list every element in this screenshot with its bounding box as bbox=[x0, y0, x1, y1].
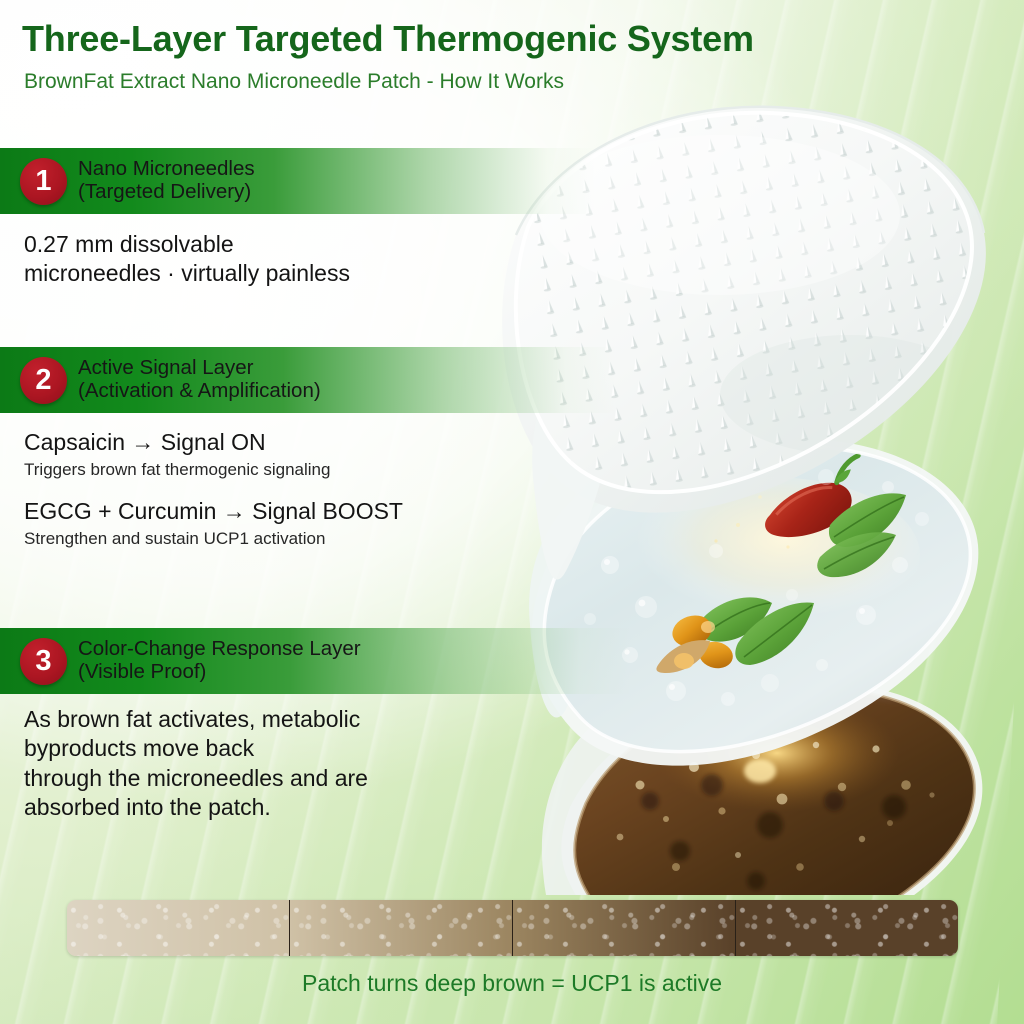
section-body-3: As brown fat activates, metabolic byprod… bbox=[24, 705, 484, 823]
section-heading-3: Color-Change Response Layer (Visible Pro… bbox=[78, 638, 361, 684]
section-body-2-item1-sub: Triggers brown fat thermogenic signaling bbox=[24, 459, 494, 481]
section-heading-1: Nano Microneedles (Targeted Delivery) bbox=[78, 158, 255, 204]
page-title: Three-Layer Targeted Thermogenic System bbox=[22, 18, 754, 60]
section-body-3-line4: absorbed into the patch. bbox=[24, 793, 484, 822]
section-body-2-item2-sub: Strengthen and sustain UCP1 activation bbox=[24, 528, 494, 550]
section-body-2-item1-title: Capsaicin → Signal ON bbox=[24, 428, 494, 457]
strip-speckle-3 bbox=[513, 900, 735, 956]
section-body-2-item2-title: EGCG + Curcumin → Signal BOOST bbox=[24, 497, 494, 526]
section-body-3-line1: As brown fat activates, metabolic bbox=[24, 705, 484, 734]
strip-segment-1 bbox=[67, 900, 289, 956]
step-badge-1: 1 bbox=[20, 158, 67, 205]
color-change-strip bbox=[67, 900, 958, 956]
section-heading-2-line2: (Activation & Amplification) bbox=[78, 380, 321, 403]
strip-speckle-1 bbox=[67, 900, 289, 956]
section-header-3: 3 Color-Change Response Layer (Visible P… bbox=[0, 628, 630, 694]
section-heading-1-line1: Nano Microneedles bbox=[78, 157, 255, 180]
section-heading-2-line1: Active Signal Layer bbox=[78, 356, 253, 379]
patch-layers-svg bbox=[470, 95, 1024, 895]
strip-caption: Patch turns deep brown = UCP1 is active bbox=[0, 970, 1024, 997]
section-body-1: 0.27 mm dissolvable microneedles · virtu… bbox=[24, 230, 454, 289]
infographic-canvas: Three-Layer Targeted Thermogenic System … bbox=[0, 0, 1024, 1024]
step-badge-2: 2 bbox=[20, 357, 67, 404]
section-heading-1-line2: (Targeted Delivery) bbox=[78, 181, 255, 204]
patch-illustration bbox=[470, 95, 1024, 895]
strip-segment-3 bbox=[512, 900, 735, 956]
section-header-1: 1 Nano Microneedles (Targeted Delivery) bbox=[0, 148, 595, 214]
section-body-3-line3: through the microneedles and are bbox=[24, 764, 484, 793]
strip-speckle-4 bbox=[736, 900, 958, 956]
section-heading-2: Active Signal Layer (Activation & Amplif… bbox=[78, 357, 321, 403]
section-body-3-line2: byproducts move back bbox=[24, 734, 484, 763]
section-heading-3-line2: (Visible Proof) bbox=[78, 661, 361, 684]
step-badge-3: 3 bbox=[20, 638, 67, 685]
strip-speckle-2 bbox=[290, 900, 512, 956]
section-header-2: 2 Active Signal Layer (Activation & Ampl… bbox=[0, 347, 615, 413]
section-heading-3-line1: Color-Change Response Layer bbox=[78, 637, 361, 660]
section-body-1-line2: microneedles · virtually painless bbox=[24, 259, 454, 288]
section-body-1-line1: 0.27 mm dissolvable bbox=[24, 230, 454, 259]
page-subtitle: BrownFat Extract Nano Microneedle Patch … bbox=[24, 70, 564, 94]
strip-segment-2 bbox=[289, 900, 512, 956]
section-body-2: Capsaicin → Signal ON Triggers brown fat… bbox=[24, 428, 494, 550]
strip-segment-4 bbox=[735, 900, 958, 956]
